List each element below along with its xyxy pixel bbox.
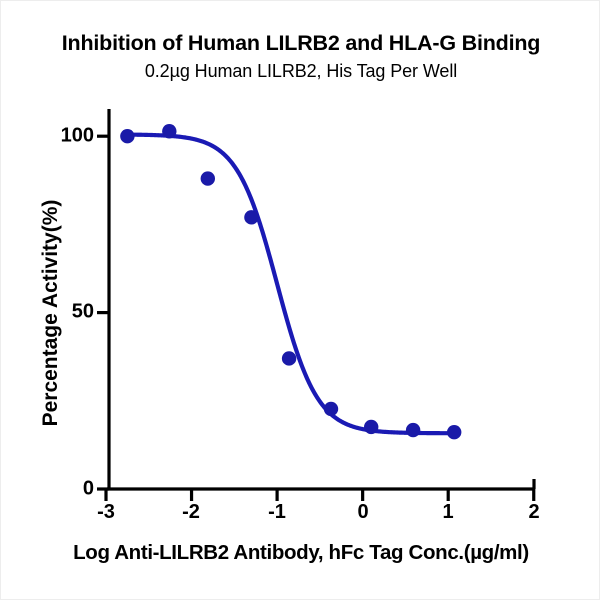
plot-area	[1, 1, 600, 600]
axis-spines	[107, 109, 535, 489]
data-point	[447, 425, 461, 439]
data-point	[244, 210, 258, 224]
data-point	[201, 171, 215, 185]
data-point	[406, 423, 420, 437]
data-point	[324, 402, 338, 416]
data-point	[364, 420, 378, 434]
data-points	[120, 124, 461, 439]
fit-curve	[125, 135, 457, 434]
x-axis-ticks	[106, 489, 534, 501]
data-point	[282, 351, 296, 365]
data-point	[162, 124, 176, 138]
y-axis-ticks	[97, 136, 109, 489]
data-point	[120, 129, 134, 143]
chart-figure: Inhibition of Human LILRB2 and HLA-G Bin…	[0, 0, 600, 600]
